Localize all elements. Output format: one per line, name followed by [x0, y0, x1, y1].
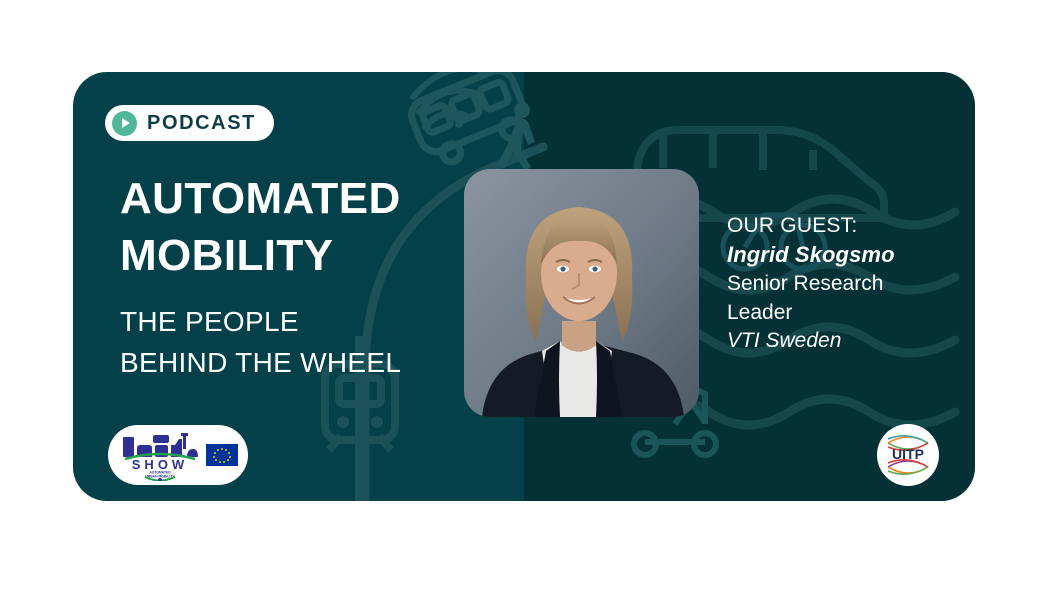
guest-role-line-2: Leader [727, 299, 952, 328]
uitp-logo: UITP [877, 424, 939, 486]
play-icon [112, 111, 137, 136]
guest-name: Ingrid Skogsmo [727, 240, 952, 270]
eu-flag-icon [206, 444, 238, 466]
guest-label: OUR GUEST: [727, 212, 952, 240]
guest-info: OUR GUEST: Ingrid Skogsmo Senior Researc… [727, 212, 952, 356]
title-line-1: AUTOMATED [120, 170, 510, 227]
podcast-promo-card: PODCAST AUTOMATED MOBILITY THE PEOPLE BE… [73, 72, 975, 501]
subtitle-line-1: THE PEOPLE [120, 302, 510, 343]
guest-role-line-1: Senior Research [727, 270, 952, 299]
guest-portrait [464, 169, 699, 417]
podcast-badge: PODCAST [105, 105, 274, 141]
show-logo: SHOW AUTOMATED URBAN MOBILITY [108, 425, 248, 485]
uitp-logo-wordmark: UITP [892, 446, 924, 462]
guest-organization: VTI Sweden [727, 327, 952, 356]
podcast-badge-label: PODCAST [147, 112, 256, 135]
subtitle-line-2: BEHIND THE WHEEL [120, 343, 510, 384]
shuttle-bus-icon [407, 72, 533, 170]
wifi-waves-icon [413, 72, 489, 128]
title-line-2: MOBILITY [120, 227, 510, 284]
title-block: AUTOMATED MOBILITY THE PEOPLE BEHIND THE… [120, 170, 510, 384]
